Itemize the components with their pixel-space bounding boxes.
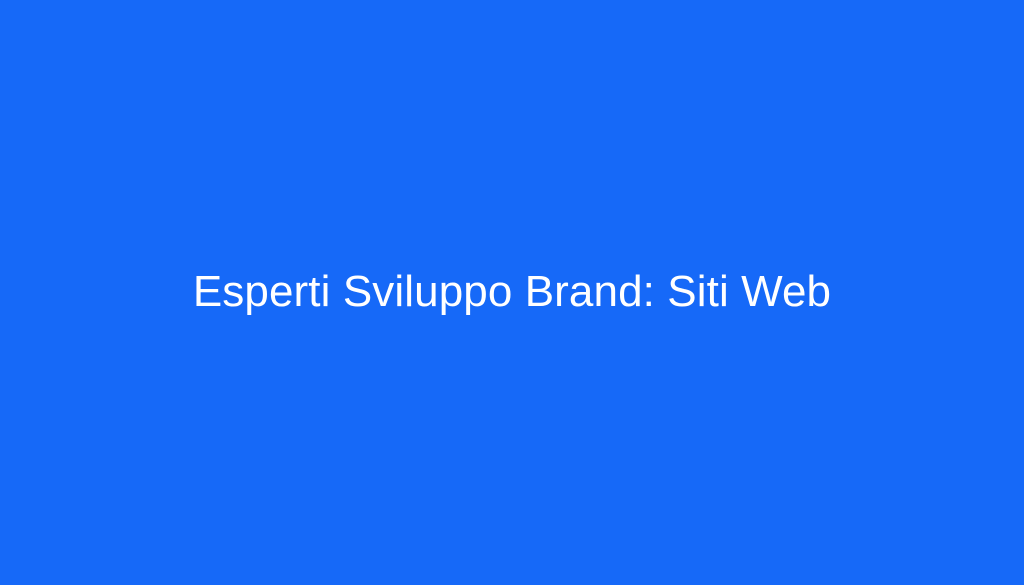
page-title: Esperti Sviluppo Brand: Siti Web bbox=[193, 266, 831, 318]
hero-banner: Esperti Sviluppo Brand: Siti Web bbox=[0, 0, 1024, 585]
hero-banner-content: Esperti Sviluppo Brand: Siti Web bbox=[0, 267, 1024, 319]
